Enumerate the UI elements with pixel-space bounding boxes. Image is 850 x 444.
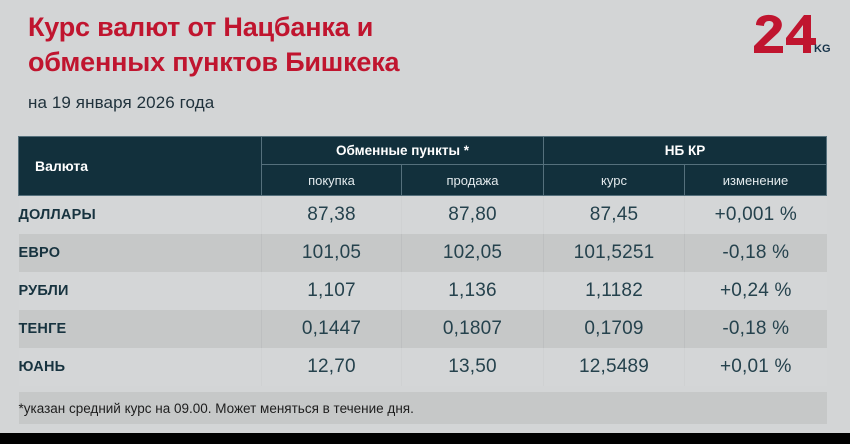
col-header-change: изменение [685, 165, 827, 196]
page-title: Курс валют от Нацбанка и обменных пункто… [28, 10, 728, 79]
table-row: ТЕНГЕ 0,1447 0,1807 0,1709 -0,18 % [19, 310, 827, 348]
cell-sell: 13,50 [402, 348, 544, 386]
cell-currency-name: ДОЛЛАРЫ [19, 196, 262, 235]
brand-logo[interactable]: KG [750, 12, 832, 54]
cell-buy: 1,107 [262, 272, 402, 310]
cell-change: +0,24 % [685, 272, 827, 310]
col-header-buy: покупка [262, 165, 402, 196]
footnote-text: *указан средний курс на 09.00. Может мен… [19, 392, 827, 424]
cell-buy: 87,38 [262, 196, 402, 235]
rates-table-container: Валюта Обменные пункты * НБ КР покупка п… [18, 136, 826, 424]
cell-currency-name: ТЕНГЕ [19, 310, 262, 348]
table-row: ЕВРО 101,05 102,05 101,5251 -0,18 % [19, 234, 827, 272]
cell-sell: 1,136 [402, 272, 544, 310]
cell-currency-name: РУБЛИ [19, 272, 262, 310]
infographic-page: Курс валют от Нацбанка и обменных пункто… [0, 0, 850, 433]
cell-change: +0,01 % [685, 348, 827, 386]
cell-rate: 87,45 [544, 196, 685, 235]
table-row: ДОЛЛАРЫ 87,38 87,80 87,45 +0,001 % [19, 196, 827, 235]
cell-rate: 101,5251 [544, 234, 685, 272]
page-subtitle: на 19 января 2026 года [28, 93, 728, 113]
cell-buy: 101,05 [262, 234, 402, 272]
svg-text:KG: KG [814, 43, 831, 54]
table-row: ЮАНЬ 12,70 13,50 12,5489 +0,01 % [19, 348, 827, 386]
cell-buy: 12,70 [262, 348, 402, 386]
table-head: Валюта Обменные пункты * НБ КР покупка п… [19, 137, 827, 196]
table-group-header-row: Валюта Обменные пункты * НБ КР [19, 137, 827, 165]
cell-change: -0,18 % [685, 310, 827, 348]
col-header-currency: Валюта [19, 137, 262, 196]
table-footnote-row: *указан средний курс на 09.00. Может мен… [19, 392, 827, 424]
cell-buy: 0,1447 [262, 310, 402, 348]
logo-24kg-icon: KG [750, 12, 832, 54]
currency-rates-table: Валюта Обменные пункты * НБ КР покупка п… [18, 136, 827, 424]
table-body: ДОЛЛАРЫ 87,38 87,80 87,45 +0,001 % ЕВРО … [19, 196, 827, 425]
table-row: РУБЛИ 1,107 1,136 1,1182 +0,24 % [19, 272, 827, 310]
cell-rate: 1,1182 [544, 272, 685, 310]
cell-change: -0,18 % [685, 234, 827, 272]
bottom-black-bar [0, 433, 850, 444]
col-header-sell: продажа [402, 165, 544, 196]
col-group-header-exchange-points: Обменные пункты * [262, 137, 544, 165]
cell-rate: 12,5489 [544, 348, 685, 386]
header-block: Курс валют от Нацбанка и обменных пункто… [28, 10, 728, 113]
cell-currency-name: ЕВРО [19, 234, 262, 272]
cell-currency-name: ЮАНЬ [19, 348, 262, 386]
col-header-rate: курс [544, 165, 685, 196]
cell-sell: 102,05 [402, 234, 544, 272]
cell-rate: 0,1709 [544, 310, 685, 348]
cell-change: +0,001 % [685, 196, 827, 235]
cell-sell: 0,1807 [402, 310, 544, 348]
col-group-header-nbkr: НБ КР [544, 137, 827, 165]
cell-sell: 87,80 [402, 196, 544, 235]
